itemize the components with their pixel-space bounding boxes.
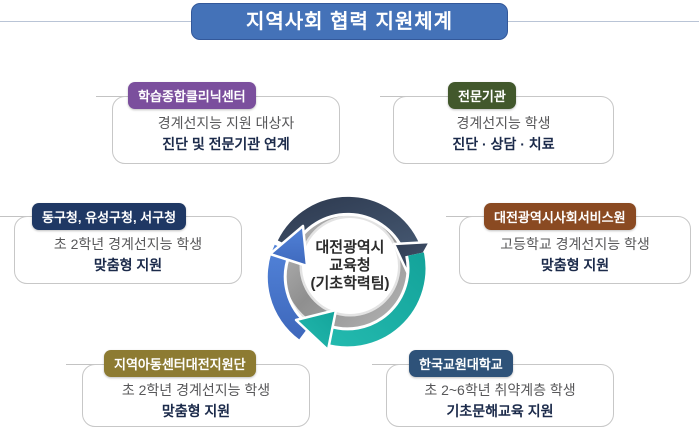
node-body-expert: 경계선지능 학생 진단 · 상담 · 치료 [393, 114, 614, 154]
node-header-social-service[interactable]: 대전광역시사회서비스원 [484, 203, 636, 230]
node-text-top-university: 초 2~6학년 취약계층 학생 [386, 381, 614, 400]
node-text-bottom-university: 기초문해교육 지원 [386, 402, 614, 421]
page-title: 지역사회 협력 지원체계 [246, 12, 453, 32]
cycle-diagram [254, 168, 446, 364]
node-body-clinic: 경계선지능 지원 대상자 진단 및 전문기관 연계 [112, 114, 340, 154]
node-body-child-center: 초 2학년 경계선지능 학생 맞춤형 지원 [82, 381, 310, 421]
node-text-top-child-center: 초 2학년 경계선지능 학생 [82, 381, 310, 400]
node-body-district: 초 2학년 경계선지능 학생 맞춤형 지원 [14, 235, 242, 275]
node-header-district[interactable]: 동구청, 유성구청, 서구청 [32, 203, 186, 230]
node-body-social-service: 고등학교 경계선지능 학생 맞춤형 지원 [459, 235, 691, 275]
node-header-label-social-service: 대전광역시사회서비스원 [494, 207, 626, 226]
node-text-top-district: 초 2학년 경계선지능 학생 [14, 235, 242, 254]
node-text-top-clinic: 경계선지능 지원 대상자 [112, 114, 340, 133]
page-title-banner: 지역사회 협력 지원체계 [191, 3, 508, 40]
node-text-bottom-child-center: 맞춤형 지원 [82, 402, 310, 421]
node-text-top-social-service: 고등학교 경계선지능 학생 [459, 235, 691, 254]
node-text-bottom-clinic: 진단 및 전문기관 연계 [112, 135, 340, 154]
node-text-bottom-social-service: 맞춤형 지원 [459, 256, 691, 275]
node-header-expert[interactable]: 전문기관 [448, 82, 516, 109]
node-body-university: 초 2~6학년 취약계층 학생 기초문해교육 지원 [386, 381, 614, 421]
node-header-label-expert: 전문기관 [458, 86, 506, 105]
node-text-top-expert: 경계선지능 학생 [393, 114, 614, 133]
node-header-label-district: 동구청, 유성구청, 서구청 [42, 207, 176, 226]
node-text-bottom-district: 맞춤형 지원 [14, 256, 242, 275]
node-header-child-center[interactable]: 지역아동센터대전지원단 [104, 350, 256, 377]
node-header-clinic[interactable]: 학습종합클리닉센터 [128, 82, 256, 109]
node-text-bottom-expert: 진단 · 상담 · 치료 [393, 135, 614, 154]
node-header-label-clinic: 학습종합클리닉센터 [138, 86, 246, 105]
node-header-label-child-center: 지역아동센터대전지원단 [114, 354, 246, 373]
